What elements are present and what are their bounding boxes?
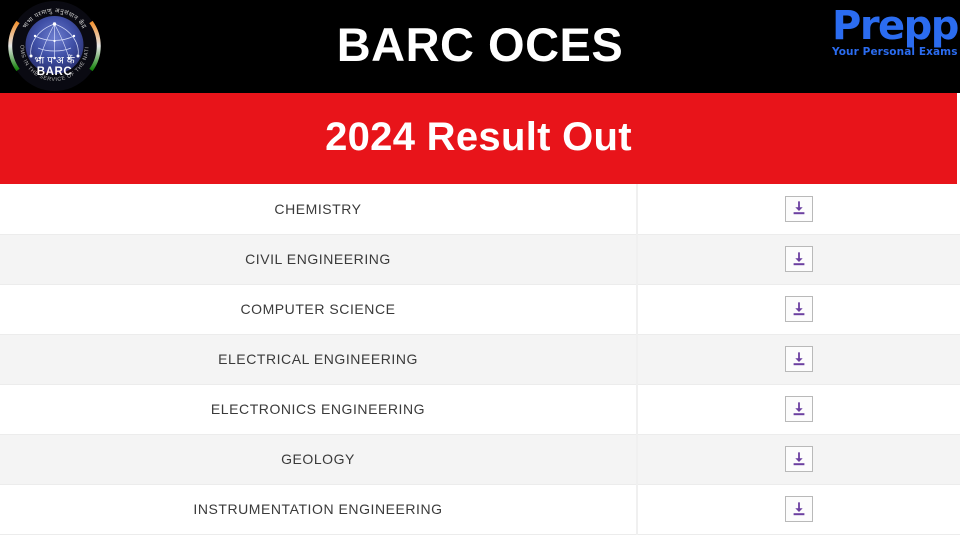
action-cell [637, 184, 960, 234]
download-icon [791, 201, 807, 216]
table-row: ELECTRONICS ENGINEERING [0, 384, 960, 434]
prepp-logo-icon[interactable]: Prepp Your Personal Exams Guide [832, 4, 960, 76]
prepp-wordmark: Prepp [832, 4, 960, 48]
subject-cell: GEOLOGY [0, 434, 637, 484]
table-row: ELECTRICAL ENGINEERING [0, 334, 960, 384]
prepp-tagline: Your Personal Exams Guide [832, 46, 960, 58]
download-button[interactable] [785, 446, 813, 472]
download-button[interactable] [785, 246, 813, 272]
results-table: CHEMISTRYCIVIL ENGINEERINGCOMPUTER SCIEN… [0, 184, 960, 535]
action-cell [637, 284, 960, 334]
subject-cell: COMPUTER SCIENCE [0, 284, 637, 334]
table-row: CIVIL ENGINEERING [0, 234, 960, 284]
subject-cell: ELECTRONICS ENGINEERING [0, 384, 637, 434]
result-banner: 2024 Result Out [0, 93, 957, 184]
action-cell [637, 484, 960, 534]
table-row: GEOLOGY [0, 434, 960, 484]
page-header: भाभा परमाणु अनुसंधान केंद्र ATOMS IN THE… [0, 0, 960, 93]
subject-cell: CHEMISTRY [0, 184, 637, 234]
page-title: BARC OCES [0, 0, 960, 93]
download-icon [791, 502, 807, 517]
page-root: भाभा परमाणु अनुसंधान केंद्र ATOMS IN THE… [0, 0, 960, 540]
download-icon [791, 252, 807, 267]
table-row: INSTRUMENTATION ENGINEERING [0, 484, 960, 534]
download-button[interactable] [785, 296, 813, 322]
download-icon [791, 302, 807, 317]
action-cell [637, 384, 960, 434]
download-icon [791, 402, 807, 417]
results-table-body: CHEMISTRYCIVIL ENGINEERINGCOMPUTER SCIEN… [0, 184, 960, 534]
table-row: COMPUTER SCIENCE [0, 284, 960, 334]
action-cell [637, 334, 960, 384]
download-button[interactable] [785, 196, 813, 222]
download-button[interactable] [785, 496, 813, 522]
subject-cell: ELECTRICAL ENGINEERING [0, 334, 637, 384]
download-button[interactable] [785, 396, 813, 422]
action-cell [637, 434, 960, 484]
table-row: CHEMISTRY [0, 184, 960, 234]
result-banner-text: 2024 Result Out [325, 117, 632, 160]
download-icon [791, 352, 807, 367]
subject-cell: INSTRUMENTATION ENGINEERING [0, 484, 637, 534]
action-cell [637, 234, 960, 284]
download-button[interactable] [785, 346, 813, 372]
subject-cell: CIVIL ENGINEERING [0, 234, 637, 284]
download-icon [791, 452, 807, 467]
